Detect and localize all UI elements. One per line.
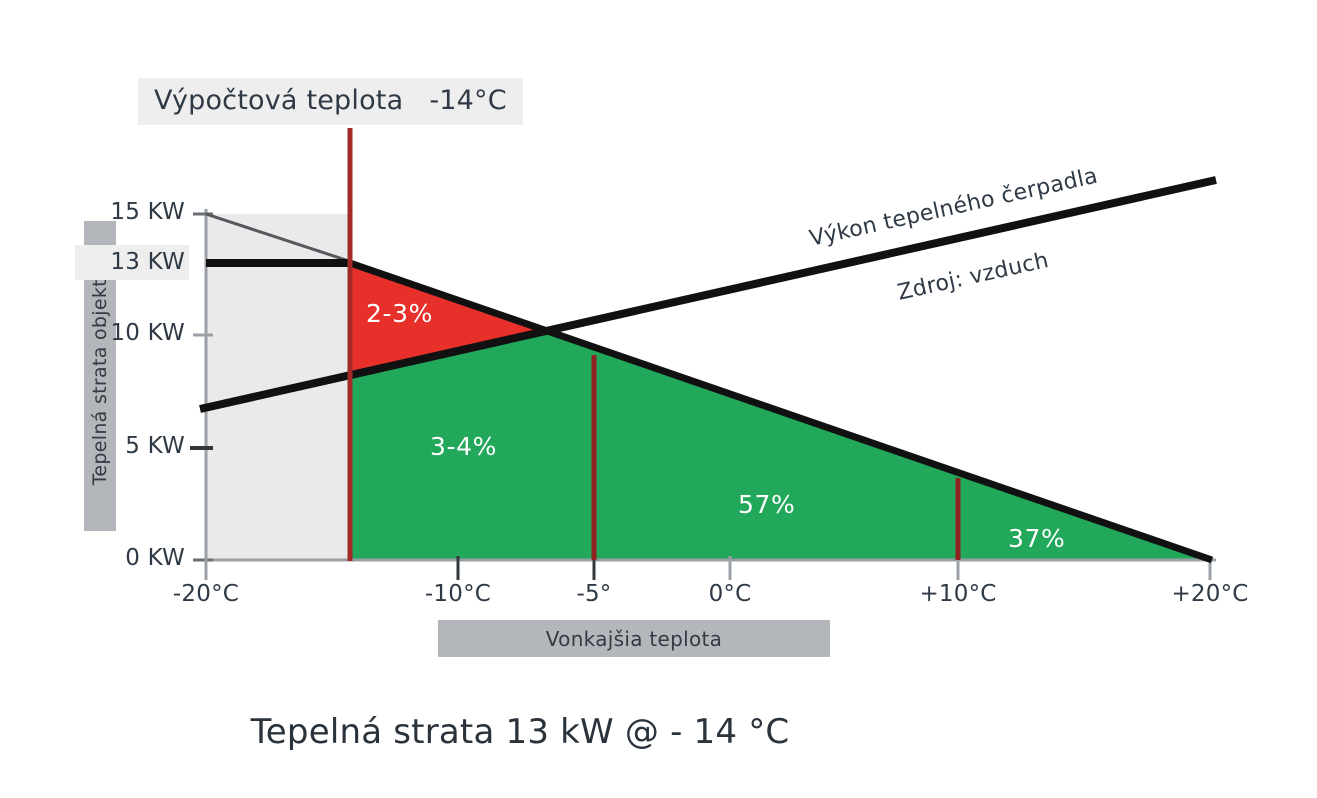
region-label-high: 37% [1008,524,1065,553]
x-axis-title: Vonkajšia teplota [438,620,830,657]
y-tick-label-10kw: 10 KW [75,320,185,346]
y-tick-label-5kw: 5 KW [75,433,185,459]
chart-canvas: Výpočtová teplota-14°C Tepelná strata ob… [0,0,1317,798]
y-tick-label-13kw: 13 KW [75,245,189,280]
y-tick-label-0kw: 0 KW [75,545,185,571]
x-tick-label--20: -20°C [136,581,276,607]
design-temperature-value: -14°C [429,85,506,116]
region-label-bivalent: 2-3% [366,299,433,328]
design-temperature-label: Výpočtová teplota [154,85,403,116]
y-tick-label-15kw: 15 KW [75,199,185,225]
x-tick-label-+10: +10°C [888,581,1028,607]
region-label-low: 3-4% [430,432,497,461]
x-tick-label--5: -5° [524,581,664,607]
region-label-mid: 57% [738,490,795,519]
x-tick-label-+20: +20°C [1140,581,1280,607]
x-tick-label-0: 0°C [660,581,800,607]
chart-caption: Tepelná strata 13 kW @ - 14 °C [0,712,1040,752]
design-temperature-banner: Výpočtová teplota-14°C [138,78,523,125]
x-tick-label--10: -10°C [388,581,528,607]
